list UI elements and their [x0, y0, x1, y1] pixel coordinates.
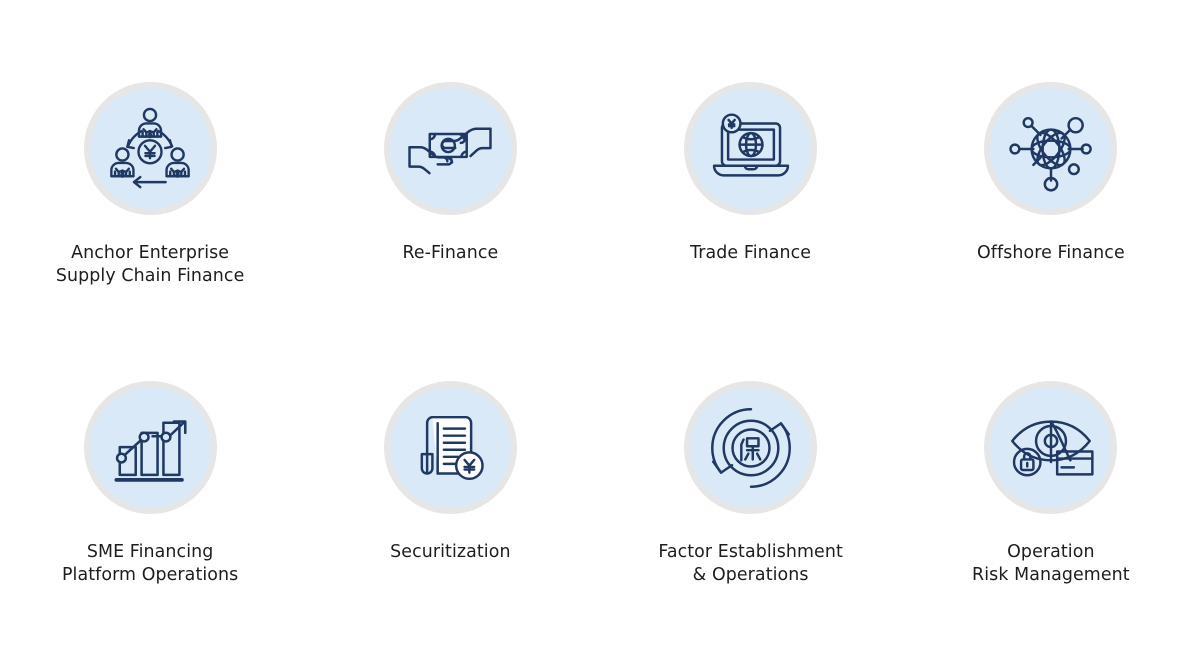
grid-item-re-finance[interactable]: Re-Finance [300, 82, 600, 380]
grid-item-offshore-finance[interactable]: Offshore Finance [901, 82, 1201, 380]
icon-badge [384, 82, 517, 215]
grid-item-label: Factor Establishment & Operations [658, 541, 843, 586]
grid-item-operation-risk-management[interactable]: Operation Risk Management [901, 380, 1201, 669]
hands-exchanging-money-icon [406, 105, 494, 193]
circular-arrows-guarantee-icon [707, 404, 795, 492]
icon-badge [84, 82, 217, 215]
global-network-nodes-icon [1007, 105, 1095, 193]
grid-item-securitization[interactable]: Securitization [300, 380, 600, 669]
grid-item-factor-establishment-operations[interactable]: Factor Establishment & Operations [601, 380, 901, 669]
icon-badge [684, 381, 817, 514]
icon-badge [384, 381, 517, 514]
laptop-globe-yen-icon [707, 105, 795, 193]
grid-item-label: Operation Risk Management [972, 541, 1130, 586]
icon-badge [984, 82, 1117, 215]
feature-grid: Anchor Enterprise Supply Chain Finance [0, 0, 1201, 669]
grid-item-sme-financing-platform-operations[interactable]: SME Financing Platform Operations [0, 380, 300, 669]
icon-grid-board: Anchor Enterprise Supply Chain Finance [0, 0, 1201, 669]
icon-badge [84, 381, 217, 514]
grid-item-label: Re-Finance [402, 242, 498, 265]
icon-badge [984, 381, 1117, 514]
grid-item-label: Trade Finance [690, 242, 811, 265]
grid-item-label: Securitization [390, 541, 510, 564]
grid-item-label: Anchor Enterprise Supply Chain Finance [56, 242, 245, 287]
document-scroll-yen-icon [406, 404, 494, 492]
icon-badge [684, 82, 817, 215]
eye-lock-card-icon [1007, 404, 1095, 492]
people-network-yen-icon [104, 103, 196, 195]
grid-item-label: SME Financing Platform Operations [62, 541, 238, 586]
bar-chart-growth-arrow-icon [108, 406, 192, 490]
grid-item-label: Offshore Finance [977, 242, 1125, 265]
grid-item-anchor-enterprise-supply-chain-finance[interactable]: Anchor Enterprise Supply Chain Finance [0, 82, 300, 380]
grid-item-trade-finance[interactable]: Trade Finance [601, 82, 901, 380]
